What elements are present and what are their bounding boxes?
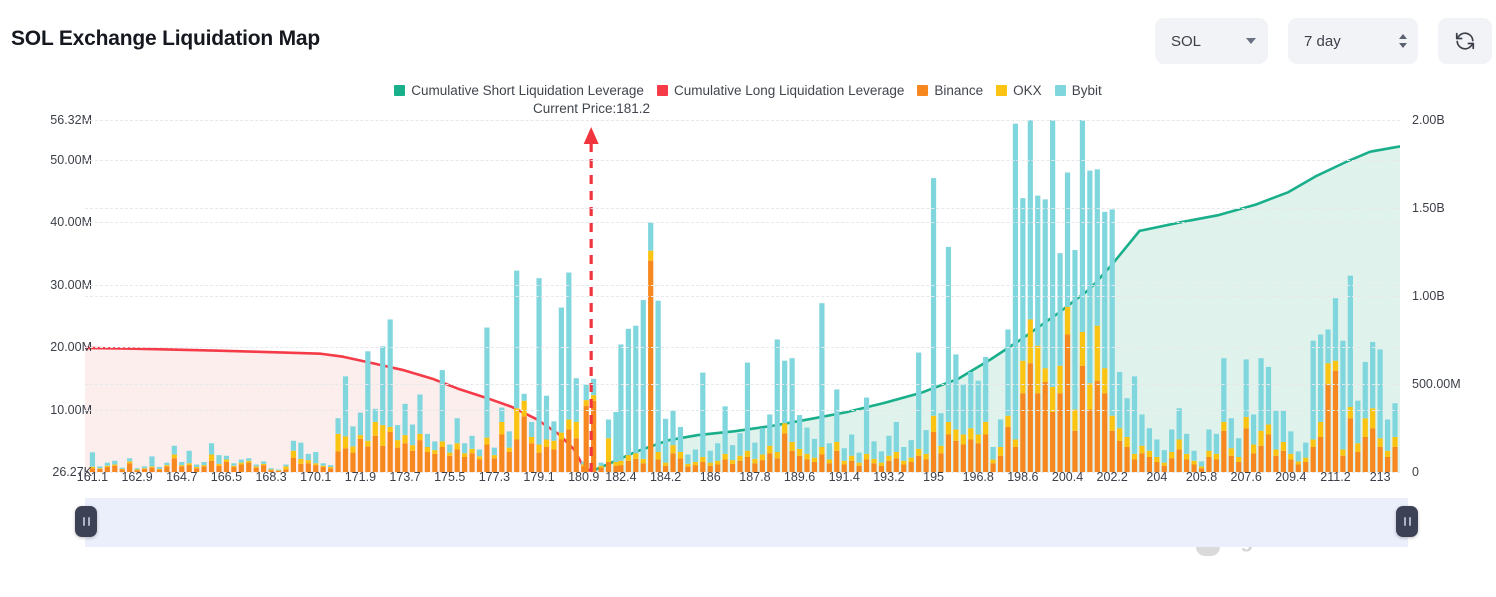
bar-segment-bybit — [648, 223, 653, 251]
bar-segment-okx — [790, 442, 795, 451]
bar-segment-okx — [827, 459, 832, 463]
bar-segment-okx — [462, 453, 467, 457]
bar-segment-bybit — [584, 384, 589, 400]
bar-segment-okx — [1385, 451, 1390, 457]
bar-segment-bybit — [1214, 434, 1219, 454]
bar-segment-bybit — [849, 434, 854, 455]
bar-segment-okx — [298, 459, 303, 464]
bar-segment-okx — [894, 452, 899, 458]
time-range-stepper[interactable]: 7 day — [1288, 18, 1418, 64]
bar-segment-bybit — [1162, 450, 1167, 463]
bar-segment-okx — [1110, 416, 1115, 431]
gridline — [85, 410, 1400, 411]
bar-segment-bybit — [775, 339, 780, 452]
bar-segment-bybit — [142, 466, 147, 468]
bar-segment-binance — [1318, 437, 1323, 472]
range-handle-right[interactable] — [1396, 506, 1418, 537]
bar-segment-binance — [1392, 447, 1397, 472]
bar-segment-bybit — [804, 428, 809, 454]
bar-segment-bybit — [767, 414, 772, 445]
bar-segment-binance — [1355, 452, 1360, 472]
bar-segment-okx — [1072, 409, 1077, 430]
bar-segment-bybit — [723, 406, 728, 454]
bar-segment-bybit — [1065, 172, 1070, 306]
bar-segment-bybit — [1296, 451, 1301, 461]
bar-segment-bybit — [1147, 428, 1152, 451]
bar-segment-bybit — [328, 465, 333, 467]
bar-segment-okx — [968, 428, 973, 439]
symbol-select-value: SOL — [1171, 33, 1201, 50]
bar-segment-okx — [1080, 332, 1085, 366]
bar-segment-okx — [946, 422, 951, 435]
bar-segment-binance — [1244, 428, 1249, 472]
legend-swatch-icon — [657, 85, 668, 96]
y-axis-right-tick: 1.50B — [1412, 201, 1445, 215]
bar-segment-bybit — [613, 412, 618, 462]
bar-segment-okx — [1139, 446, 1144, 454]
bar-segment-bybit — [254, 464, 259, 466]
bar-segment-okx — [358, 435, 363, 439]
bar-segment-binance — [1087, 409, 1092, 472]
bar-segment-bybit — [916, 353, 921, 449]
bar-segment-okx — [187, 463, 192, 465]
bar-segment-okx — [440, 441, 445, 447]
bar-segment-okx — [492, 455, 497, 458]
bar-segment-bybit — [685, 454, 690, 463]
bar-segment-okx — [291, 451, 296, 458]
refresh-button[interactable] — [1438, 18, 1492, 64]
bar-segment-bybit — [544, 396, 549, 440]
bar-segment-bybit — [298, 443, 303, 459]
legend-item-binance[interactable]: Binance — [917, 83, 983, 98]
bar-segment-binance — [1348, 418, 1353, 472]
bar-segment-binance — [931, 432, 936, 472]
bar-segment-bybit — [1095, 169, 1100, 325]
bar-segment-bybit — [1028, 120, 1033, 319]
bar-segment-okx — [447, 453, 452, 456]
bar-segment-okx — [598, 466, 603, 468]
bar-segment-okx — [857, 463, 862, 466]
bar-segment-bybit — [1184, 434, 1189, 454]
stepper-arrows-icon[interactable] — [1399, 34, 1407, 48]
bar-segment-bybit — [425, 434, 430, 447]
bar-segment-bybit — [239, 459, 244, 462]
bar-segment-bybit — [172, 446, 177, 455]
bar-segment-bybit — [335, 418, 340, 434]
bar-segment-okx — [1117, 428, 1122, 441]
x-axis-tick: 173.7 — [389, 470, 420, 484]
bar-segment-okx — [201, 465, 206, 466]
time-range-value: 7 day — [1304, 33, 1341, 50]
bar-segment-bybit — [857, 453, 862, 463]
bar-segment-binance — [440, 447, 445, 472]
bar-segment-bybit — [1139, 414, 1144, 445]
bar-segment-binance — [1258, 446, 1263, 472]
bar-segment-binance — [1110, 431, 1115, 472]
bar-segment-bybit — [894, 422, 899, 452]
bar-segment-bybit — [1169, 429, 1174, 452]
bar-segment-okx — [142, 468, 147, 469]
bar-segment-okx — [127, 461, 132, 463]
bar-segment-okx — [499, 422, 504, 435]
gridline — [85, 120, 1400, 121]
bar-segment-bybit — [990, 447, 995, 460]
bar-segment-bybit — [760, 428, 765, 454]
bar-segment-binance — [1311, 447, 1316, 472]
bar-segment-okx — [1102, 368, 1107, 393]
bar-segment-bybit — [745, 363, 750, 451]
legend-item-bybit[interactable]: Bybit — [1055, 83, 1102, 98]
bar-segment-binance — [946, 434, 951, 472]
legend-item-cumulative-short-liquidation-leverage[interactable]: Cumulative Short Liquidation Leverage — [394, 83, 644, 98]
bar-segment-okx — [879, 463, 884, 466]
bar-segment-bybit — [1370, 342, 1375, 408]
bar-segment-binance — [529, 443, 534, 472]
bar-segment-binance — [358, 439, 363, 472]
bar-segment-okx — [641, 459, 646, 463]
bar-segment-okx — [559, 433, 564, 440]
bar-segment-binance — [455, 449, 460, 472]
bar-segment-bybit — [1072, 250, 1077, 409]
bar-segment-binance — [507, 452, 512, 472]
bar-segment-binance — [1028, 363, 1033, 472]
bar-segment-bybit — [1311, 341, 1316, 440]
bar-segment-bybit — [1177, 408, 1182, 439]
bar-segment-okx — [209, 454, 214, 460]
bar-segment-binance — [968, 439, 973, 472]
bar-segment-bybit — [291, 441, 296, 451]
bar-segment-okx — [849, 456, 854, 461]
bar-segment-bybit — [670, 411, 675, 445]
x-axis-tick: 177.3 — [479, 470, 510, 484]
x-axis-tick: 182.4 — [605, 470, 636, 484]
range-slider-track[interactable] — [85, 498, 1408, 547]
bar-segment-bybit — [656, 301, 661, 452]
bar-segment-binance — [1363, 437, 1368, 472]
y-axis-right-tick: 2.00B — [1412, 113, 1445, 127]
bar-segment-okx — [1370, 408, 1375, 428]
bar-segment-bybit — [462, 443, 467, 453]
bar-segment-okx — [745, 451, 750, 457]
bar-segment-bybit — [1392, 403, 1397, 437]
bar-segment-okx — [1221, 422, 1226, 431]
bar-segment-okx — [618, 461, 623, 465]
legend-swatch-icon — [996, 85, 1007, 96]
bar-segment-okx — [1214, 454, 1219, 460]
x-axis-tick: 162.9 — [121, 470, 152, 484]
x-axis-tick: 196.8 — [963, 470, 994, 484]
bar-segment-okx — [760, 454, 765, 460]
bar-segment-okx — [901, 461, 906, 465]
bar-segment-okx — [663, 463, 668, 466]
bar-segment-okx — [1296, 461, 1301, 464]
bar-segment-okx — [819, 447, 824, 455]
bar-segment-bybit — [708, 451, 713, 463]
bar-segment-okx — [313, 463, 318, 465]
bar-segment-okx — [1005, 416, 1010, 427]
x-axis-tick: 161.1 — [77, 470, 108, 484]
bar-segment-okx — [105, 466, 110, 467]
bar-segment-okx — [670, 445, 675, 453]
bar-segment-okx — [1288, 454, 1293, 460]
bar-segment-bybit — [395, 425, 400, 440]
bar-segment-okx — [916, 449, 921, 456]
bar-segment-okx — [591, 395, 596, 401]
bar-segment-okx — [469, 449, 474, 453]
bar-segment-bybit — [715, 443, 720, 461]
bar-segment-bybit — [149, 456, 154, 466]
bar-segment-binance — [790, 451, 795, 472]
bar-segment-okx — [1162, 463, 1167, 466]
bar-segment-bybit — [529, 422, 534, 437]
x-axis: 161.1162.9164.7166.5168.3170.1171.9173.7… — [85, 470, 1400, 488]
bar-segment-okx — [551, 441, 556, 450]
bar-segment-bybit — [566, 273, 571, 420]
bar-segment-bybit — [790, 358, 795, 442]
bar-segment-bybit — [983, 357, 988, 422]
bar-segment-bybit — [864, 398, 869, 454]
bar-segment-okx — [606, 438, 611, 462]
bar-segment-okx — [931, 416, 936, 432]
bar-segment-bybit — [536, 278, 541, 444]
bar-segment-okx — [350, 446, 355, 452]
bar-segment-okx — [584, 400, 589, 406]
bar-segment-bybit — [522, 394, 527, 401]
bar-segment-okx — [909, 458, 914, 462]
x-axis-tick: 198.6 — [1007, 470, 1038, 484]
bar-segment-bybit — [120, 468, 125, 469]
bar-segment-bybit — [812, 439, 817, 458]
bar-segment-bybit — [901, 447, 906, 461]
x-axis-tick: 211.2 — [1320, 470, 1350, 484]
bar-segment-bybit — [618, 344, 623, 460]
bar-segment-okx — [1095, 326, 1100, 381]
bar-segment-okx — [477, 456, 482, 459]
bar-segment-okx — [97, 468, 102, 469]
bar-segment-bybit — [737, 433, 742, 456]
bar-segment-okx — [574, 422, 579, 438]
bar-segment-bybit — [700, 373, 705, 457]
bar-segment-bybit — [380, 346, 385, 425]
gridline — [85, 296, 1400, 297]
bar-segment-okx — [1251, 444, 1256, 453]
x-axis-tick: 171.9 — [345, 470, 376, 484]
bar-segment-okx — [172, 454, 177, 458]
bar-segment-binance — [591, 401, 596, 472]
bar-segment-bybit — [514, 271, 519, 409]
bar-segment-binance — [514, 439, 519, 472]
bar-segment-okx — [373, 422, 378, 436]
bar-segment-bybit — [105, 463, 110, 466]
bar-segment-okx — [1191, 461, 1196, 465]
x-axis-tick: 204 — [1146, 470, 1167, 484]
refresh-icon — [1454, 30, 1476, 52]
bar-segment-okx — [410, 445, 415, 451]
x-axis-tick: 193.2 — [873, 470, 904, 484]
bar-segment-okx — [1311, 439, 1316, 447]
gridline — [85, 222, 1400, 223]
bar-segment-okx — [998, 447, 1003, 456]
x-axis-tick: 166.5 — [211, 470, 242, 484]
x-axis-tick: 170.1 — [300, 470, 331, 484]
bar-segment-bybit — [343, 376, 348, 436]
bar-segment-okx — [723, 454, 728, 460]
bar-segment-binance — [1013, 447, 1018, 472]
bar-segment-okx — [544, 439, 549, 447]
bar-segment-bybit — [201, 462, 206, 465]
bar-segment-bybit — [953, 354, 958, 429]
bar-segment-bybit — [909, 440, 914, 458]
gridline — [85, 160, 1400, 161]
x-axis-tick: 202.2 — [1097, 470, 1128, 484]
bar-segment-binance — [953, 441, 958, 472]
bar-segment-binance — [402, 443, 407, 472]
bar-segment-okx — [1258, 431, 1263, 446]
bar-segment-bybit — [179, 462, 184, 465]
bar-segment-okx — [388, 427, 393, 432]
bar-segment-okx — [976, 434, 981, 443]
x-axis-tick: 195 — [923, 470, 944, 484]
legend-item-okx[interactable]: OKX — [996, 83, 1042, 98]
bar-segment-okx — [402, 435, 407, 443]
bar-segment-binance — [1057, 393, 1062, 472]
bar-segment-binance — [544, 447, 549, 472]
symbol-select[interactable]: SOL — [1155, 18, 1268, 64]
bar-segment-bybit — [842, 448, 847, 461]
page-title: SOL Exchange Liquidation Map — [11, 27, 320, 51]
bar-segment-bybit — [1244, 359, 1249, 417]
bar-segment-okx — [224, 459, 229, 462]
bar-segment-binance — [584, 406, 589, 472]
bar-segment-okx — [1169, 452, 1174, 458]
bar-segment-okx — [1355, 443, 1360, 452]
bar-segment-bybit — [224, 456, 229, 460]
legend-swatch-icon — [1055, 85, 1066, 96]
bar-segment-okx — [700, 457, 705, 462]
bar-segment-okx — [938, 446, 943, 454]
bar-segment-okx — [112, 464, 117, 465]
bar-segment-okx — [194, 467, 199, 468]
bar-segment-bybit — [1124, 398, 1129, 437]
bar-segment-binance — [574, 438, 579, 472]
legend-item-cumulative-long-liquidation-leverage[interactable]: Cumulative Long Liquidation Leverage — [657, 83, 904, 98]
bar-segment-okx — [782, 423, 787, 433]
bar-segment-binance — [1080, 366, 1085, 472]
bar-segment-bybit — [886, 436, 891, 456]
bar-segment-bybit — [1154, 439, 1159, 457]
bar-segment-bybit — [1221, 358, 1226, 422]
bar-segment-binance — [410, 451, 415, 472]
bar-segment-bybit — [797, 415, 802, 449]
bar-segment-bybit — [492, 448, 497, 456]
gridline — [85, 347, 1400, 348]
bar-segment-bybit — [358, 413, 363, 436]
bar-segment-bybit — [1281, 411, 1286, 442]
bar-segment-okx — [1132, 454, 1137, 460]
bar-segment-bybit — [1266, 367, 1271, 425]
bar-segment-bybit — [730, 445, 735, 460]
bar-segment-bybit — [551, 421, 556, 440]
bar-segment-okx — [1013, 439, 1018, 447]
bar-segment-binance — [834, 451, 839, 472]
bar-segment-okx — [715, 461, 720, 465]
bar-segment-bybit — [209, 443, 214, 454]
x-axis-tick: 189.6 — [784, 470, 815, 484]
bar-segment-binance — [1325, 384, 1330, 472]
bar-segment-okx — [1273, 449, 1278, 455]
bar-segment-binance — [417, 440, 422, 472]
bar-segment-bybit — [782, 361, 787, 424]
bar-segment-binance — [1035, 393, 1040, 472]
x-axis-tick: 191.4 — [829, 470, 860, 484]
bar-segment-okx — [1236, 457, 1241, 462]
x-axis-tick: 209.4 — [1275, 470, 1306, 484]
bar-segment-bybit — [998, 419, 1003, 447]
bar-segment-bybit — [164, 463, 169, 466]
bar-segment-bybit — [633, 326, 638, 454]
x-axis-tick: 187.8 — [739, 470, 770, 484]
x-axis-tick: 184.2 — [650, 470, 681, 484]
bar-segment-okx — [1244, 417, 1249, 428]
bar-segment-binance — [1043, 382, 1048, 472]
bar-segment-bybit — [1229, 418, 1234, 448]
bar-segment-okx — [775, 452, 780, 458]
bar-segment-okx — [633, 453, 638, 459]
bar-segment-binance — [1370, 428, 1375, 472]
x-axis-tick: 213 — [1370, 470, 1391, 484]
bar-segment-okx — [983, 422, 988, 435]
bar-segment-okx — [1028, 319, 1033, 363]
bar-segment-bybit — [216, 455, 221, 464]
bar-segment-binance — [425, 452, 430, 472]
header-bar: SOL Exchange Liquidation Map SOL 7 day — [0, 0, 1496, 82]
bar-segment-binance — [782, 433, 787, 472]
bar-segment-bybit — [1035, 196, 1040, 346]
legend-swatch-icon — [917, 85, 928, 96]
bar-segment-okx — [886, 456, 891, 461]
bar-segment-okx — [254, 466, 259, 467]
bar-segment-okx — [834, 442, 839, 451]
range-slider[interactable] — [85, 498, 1408, 547]
bar-segment-bybit — [663, 419, 668, 463]
bar-segment-bybit — [365, 351, 370, 440]
gridline — [85, 384, 1400, 385]
bar-segment-binance — [1281, 451, 1286, 472]
bar-segment-okx — [1229, 448, 1234, 456]
x-axis-tick: 164.7 — [166, 470, 197, 484]
bar-segment-bybit — [112, 461, 117, 465]
bar-segment-binance — [484, 444, 489, 472]
bar-segment-bybit — [1057, 253, 1062, 366]
bar-segment-okx — [871, 459, 876, 463]
range-handle-left[interactable] — [75, 506, 97, 537]
bar-segment-binance — [1221, 431, 1226, 472]
bar-segment-bybit — [1013, 124, 1018, 440]
bar-segment-okx — [216, 464, 221, 466]
bar-segment-okx — [656, 452, 661, 460]
bar-segment-bybit — [402, 404, 407, 435]
bar-segment-okx — [685, 464, 690, 467]
bar-segment-okx — [1199, 466, 1204, 468]
bar-segment-binance — [1095, 381, 1100, 472]
bar-segment-okx — [797, 449, 802, 456]
bar-segment-okx — [804, 454, 809, 460]
bar-segment-binance — [1005, 427, 1010, 472]
bar-segment-okx — [149, 466, 154, 467]
bar-segment-okx — [231, 466, 236, 467]
bar-segment-binance — [1050, 412, 1055, 472]
bar-segment-bybit — [641, 300, 646, 459]
